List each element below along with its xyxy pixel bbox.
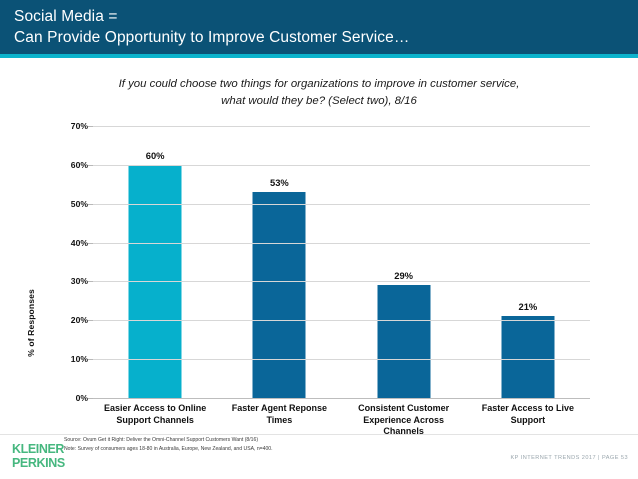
y-axis-tick-50pct: 50% — [48, 199, 88, 209]
footnote-source-line: Source: Ovum Get it Right: Deliver the O… — [64, 436, 484, 445]
y-axis-tick-0pct: 0% — [48, 393, 88, 403]
y-axis-tickmark — [88, 398, 93, 399]
bar-value-label: 29% — [394, 270, 413, 281]
bar-value-label: 21% — [518, 301, 537, 312]
bar[interactable] — [501, 316, 554, 398]
logo-line-1: KLEINER — [12, 443, 65, 457]
y-axis-tick-20pct: 20% — [48, 315, 88, 325]
y-axis-tick-labels: 0%10%20%30%40%50%60%70% — [48, 126, 88, 398]
bar-value-label: 60% — [146, 150, 165, 161]
bar[interactable] — [253, 192, 306, 398]
x-axis-label-line: Support — [468, 415, 588, 427]
bar-series: 60%53%29%21% — [93, 126, 590, 398]
y-axis-tickmark — [88, 281, 93, 282]
y-axis-tickmark — [88, 320, 93, 321]
subtitle-line-2: what would they be? (Select two), 8/16 — [60, 93, 578, 110]
y-axis-tick-10pct: 10% — [48, 354, 88, 364]
x-axis-label-4: Faster Access to LiveSupport — [466, 403, 590, 438]
y-axis-tickmark — [88, 243, 93, 244]
chart-question-subtitle: If you could choose two things for organ… — [60, 76, 578, 110]
y-axis-tickmark — [88, 126, 93, 127]
bar-chart: % of Responses 0%10%20%30%40%50%60%70% 6… — [0, 126, 638, 431]
x-axis-label-2: Faster Agent ReponseTimes — [217, 403, 341, 438]
y-axis-tick-30pct: 30% — [48, 276, 88, 286]
y-axis-tickmark — [88, 165, 93, 166]
x-axis-label-line: Experience Across — [344, 415, 464, 427]
y-axis-tick-40pct: 40% — [48, 238, 88, 248]
page-title-line-1: Social Media = — [14, 6, 638, 27]
header-accent-stripe — [0, 54, 638, 58]
footer-divider — [0, 434, 638, 435]
gridline — [93, 165, 590, 166]
kleiner-perkins-logo: KLEINER PERKINS — [12, 443, 65, 470]
gridline — [93, 126, 590, 127]
page-title-line-2: Can Provide Opportunity to Improve Custo… — [14, 27, 638, 48]
y-axis-tick-70pct: 70% — [48, 121, 88, 131]
x-axis-label-line: Easier Access to Online — [95, 403, 215, 415]
gridline — [93, 204, 590, 205]
x-axis-label-line: Faster Access to Live — [468, 403, 588, 415]
y-axis-tickmark — [88, 359, 93, 360]
plot-area: 60%53%29%21% — [93, 126, 590, 398]
axis-baseline — [93, 398, 590, 399]
x-axis-label-line: Times — [219, 415, 339, 427]
x-axis-label-line: Faster Agent Reponse — [219, 403, 339, 415]
bar-value-label: 53% — [270, 177, 289, 188]
source-footnote: Source: Ovum Get it Right: Deliver the O… — [64, 436, 484, 453]
y-axis-tickmark — [88, 204, 93, 205]
bar-group: 29% — [342, 126, 466, 398]
slide-header: Social Media = Can Provide Opportunity t… — [0, 0, 638, 54]
x-axis-category-labels: Easier Access to OnlineSupport ChannelsF… — [93, 403, 590, 438]
subtitle-line-1: If you could choose two things for organ… — [60, 76, 578, 93]
gridline — [93, 281, 590, 282]
page-footer-text: KP INTERNET TRENDS 2017 | PAGE 53 — [510, 455, 628, 461]
bar-group: 21% — [466, 126, 590, 398]
bar-group: 53% — [217, 126, 341, 398]
x-axis-label-1: Easier Access to OnlineSupport Channels — [93, 403, 217, 438]
bar[interactable] — [377, 285, 430, 398]
x-axis-label-line: Support Channels — [95, 415, 215, 427]
gridline — [93, 359, 590, 360]
bar-group: 60% — [93, 126, 217, 398]
y-axis-tick-60pct: 60% — [48, 160, 88, 170]
footnote-note-line: Note: Survey of consumers ages 18-80 in … — [64, 445, 484, 454]
gridline — [93, 320, 590, 321]
y-axis-title: % of Responses — [26, 253, 36, 393]
gridline — [93, 243, 590, 244]
logo-line-2: PERKINS — [12, 457, 65, 471]
x-axis-label-line: Consistent Customer — [344, 403, 464, 415]
x-axis-label-3: Consistent CustomerExperience AcrossChan… — [342, 403, 466, 438]
